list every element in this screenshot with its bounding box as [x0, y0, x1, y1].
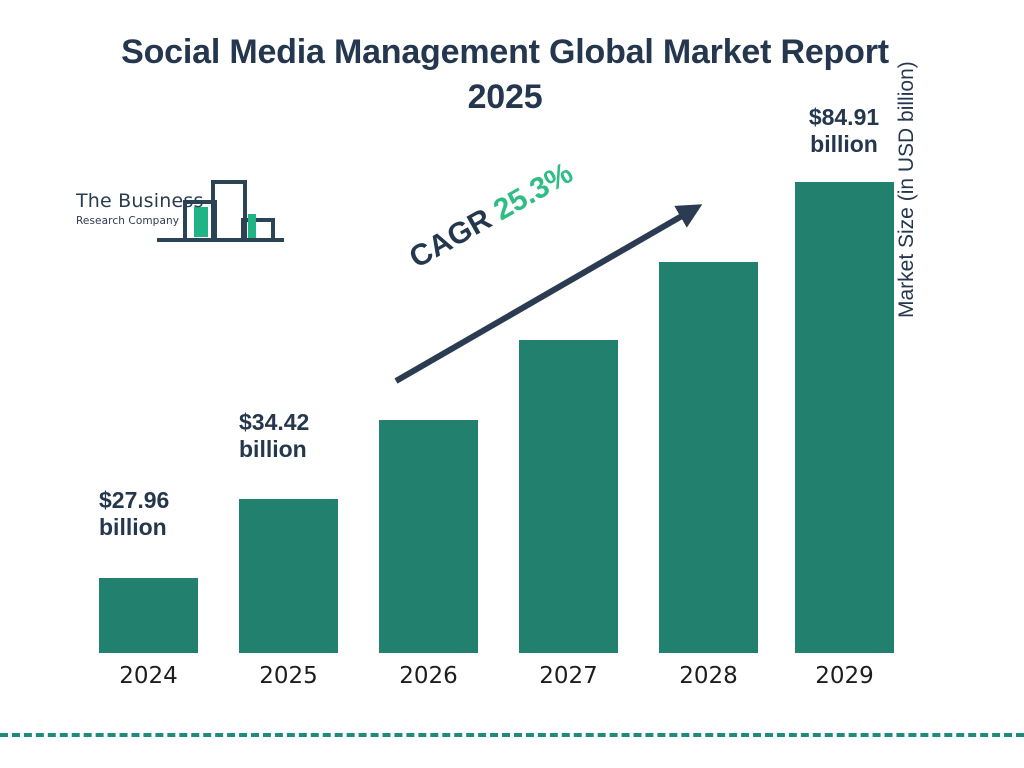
bar-chart-plot: $27.96 billion $34.42 billion $84.91 bil… — [0, 0, 1024, 768]
bar-2026 — [379, 420, 478, 653]
x-tick-2029: 2029 — [795, 665, 894, 688]
bar-label-2024-line2: billion — [99, 514, 169, 541]
bar-label-2029: $84.91 billion — [789, 104, 899, 158]
x-tick-2027: 2027 — [519, 665, 618, 688]
bar-label-2029-line1: $84.91 — [789, 104, 899, 131]
bar-label-2025-line1: $34.42 — [239, 409, 309, 436]
bar-2027 — [519, 340, 618, 653]
cagr-word: CAGR — [404, 202, 497, 274]
footer-divider — [0, 733, 1024, 737]
x-tick-2025: 2025 — [239, 665, 338, 688]
x-tick-2024: 2024 — [99, 665, 198, 688]
y-axis-title: Market Size (in USD billion) — [896, 0, 917, 318]
bar-2025 — [239, 499, 338, 653]
bar-label-2029-line2: billion — [789, 131, 899, 158]
cagr-annotation: CAGR 25.3% — [404, 156, 579, 275]
bar-label-2024: $27.96 billion — [99, 487, 169, 541]
bar-label-2025-line2: billion — [239, 436, 309, 463]
cagr-value: 25.3% — [488, 156, 578, 227]
bar-2029 — [795, 182, 894, 653]
bar-label-2025: $34.42 billion — [239, 409, 309, 463]
bar-2024 — [99, 578, 198, 653]
bar-2028 — [659, 262, 758, 653]
x-tick-2026: 2026 — [379, 665, 478, 688]
x-tick-2028: 2028 — [659, 665, 758, 688]
bar-label-2024-line1: $27.96 — [99, 487, 169, 514]
